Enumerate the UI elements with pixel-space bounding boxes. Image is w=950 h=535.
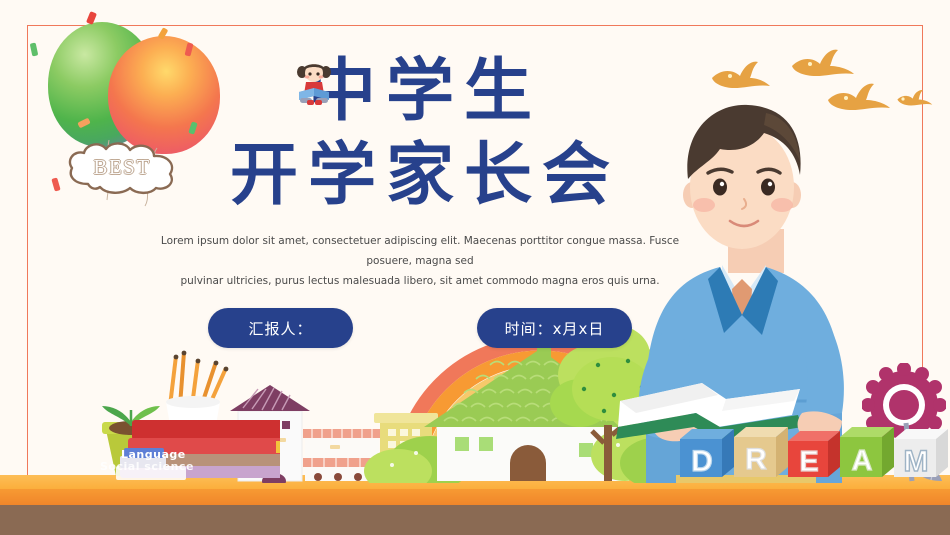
floor-mid-strip <box>0 489 950 505</box>
presenter-pill[interactable]: 汇报人： <box>208 308 353 348</box>
block-letter-a: A <box>840 427 894 477</box>
subtitle-line-2: pulvinar ultricies, purus lectus malesua… <box>180 275 659 287</box>
floor <box>0 475 950 535</box>
confetti-piece <box>51 177 60 191</box>
page-title-line-1: 中学生 <box>160 58 690 126</box>
slide-canvas: BEST <box>0 0 950 535</box>
confetti-piece <box>30 43 39 57</box>
block-letter-m: M <box>894 429 948 478</box>
block-letter-e: E <box>788 431 840 478</box>
subtitle-line-1: Lorem ipsum dolor sit amet, consectetuer… <box>161 235 679 267</box>
svg-text:R: R <box>745 443 767 476</box>
floor-base-strip <box>0 505 950 535</box>
svg-text:E: E <box>799 446 818 478</box>
book-label-social-science: Social science <box>100 460 194 473</box>
svg-text:A: A <box>852 445 873 477</box>
block-letter-r: R <box>734 427 788 477</box>
page-title-line-2: 开学家长会 <box>160 142 690 210</box>
meta-pill-row: 汇报人： 时间：x月x日 <box>150 308 690 348</box>
svg-text:M: M <box>904 445 929 478</box>
title-block: 中学生 开学家长会 Lorem ipsum dolor sit amet, co… <box>150 58 690 292</box>
subtitle-text: Lorem ipsum dolor sit amet, consectetuer… <box>150 232 690 292</box>
block-letter-d: D <box>680 429 734 478</box>
svg-text:D: D <box>691 445 713 478</box>
dream-letter-blocks: D R E A M <box>676 421 948 483</box>
reading-girl-icon <box>291 60 337 106</box>
time-pill[interactable]: 时间：x月x日 <box>477 308 632 348</box>
